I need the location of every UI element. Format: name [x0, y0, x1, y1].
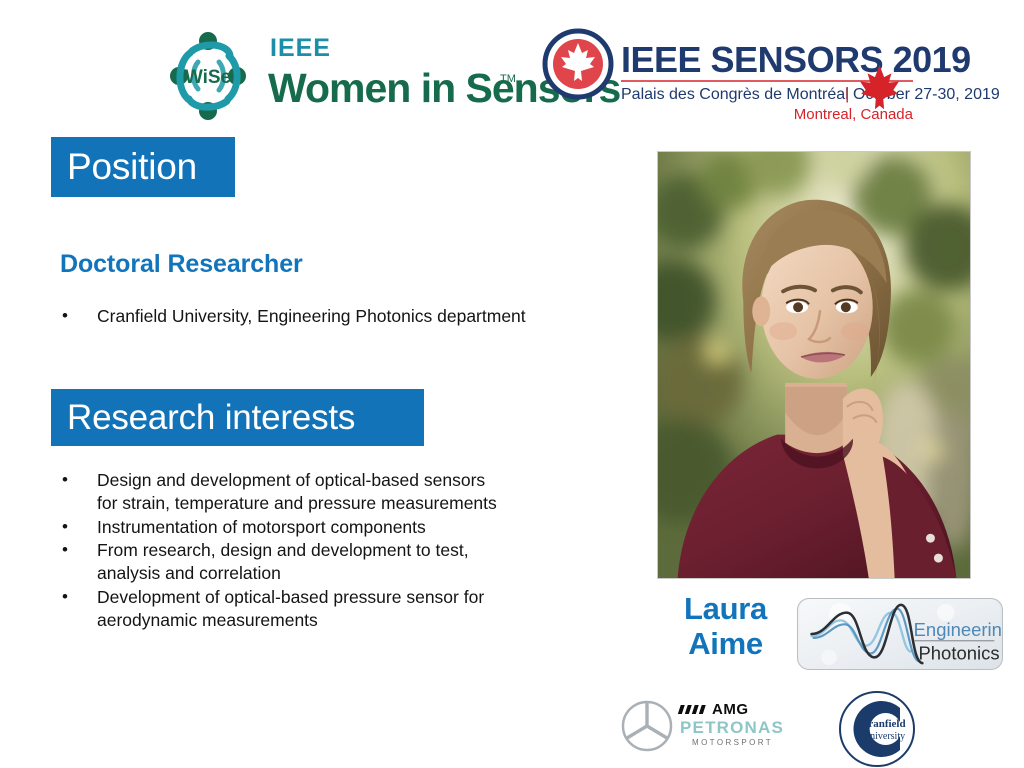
maple-leaf-roundel-icon — [545, 31, 611, 97]
list-item: • Instrumentation of motorsport componen… — [52, 516, 632, 539]
bullet-text: Cranfield University, Engineering Photon… — [97, 305, 652, 329]
list-item: • Design and development of optical-base… — [52, 469, 632, 515]
amg-text: AMG — [712, 701, 749, 718]
amg-speed-bars — [678, 705, 706, 714]
list-item: • Development of optical-based pressure … — [52, 586, 632, 632]
cranfield-line1-text: Cranfield — [860, 718, 905, 730]
sensors-title-text: IEEE SENSORS 2019 — [621, 39, 971, 80]
person-name: Laura Aime — [663, 592, 788, 661]
ieee-sensors-2019-logo: IEEE SENSORS 2019 Palais des Congrès de … — [543, 26, 935, 124]
sensors-venue-text: Palais des Congrès de Montréal — [621, 86, 849, 103]
subheading-doctoral-researcher: Doctoral Researcher — [60, 250, 303, 279]
bullet-marker-icon: • — [62, 469, 68, 491]
list-item: • From research, design and development … — [52, 539, 632, 585]
ieee-women-in-sensors-logo: WiSe IEEE Women in Sensors TM — [124, 22, 524, 130]
bullet-text: Design and development of optical-based … — [97, 469, 632, 515]
bullet-marker-icon: • — [62, 539, 68, 561]
list-item: • Cranfield University, Engineering Phot… — [52, 305, 652, 329]
sensors-dates-divider: | — [845, 84, 849, 103]
sensors-city-text: Montreal, Canada — [794, 106, 914, 123]
mercedes-amg-petronas-motorsport-logo: AMG PETRONAS MOTORSPORT — [620, 695, 785, 757]
section-banner-research-interests: Research interests — [51, 389, 424, 446]
bullet-text: Development of optical-based pressure se… — [97, 586, 632, 632]
person-name-line2: Aime — [663, 627, 788, 662]
eye-left — [793, 302, 803, 312]
cranfield-line2-text: University — [863, 731, 905, 742]
eye-right — [841, 302, 851, 312]
ep-line2-text: Photonics — [918, 642, 999, 663]
portrait-photo — [657, 151, 971, 579]
bullet-list-research-interests: • Design and development of optical-base… — [52, 469, 632, 632]
cranfield-university-logo: Cranfield University — [838, 690, 916, 768]
bullet-list-position: • Cranfield University, Engineering Phot… — [52, 305, 652, 330]
mercedes-star-icon — [623, 702, 671, 750]
bullet-marker-icon: • — [62, 305, 68, 328]
trademark-symbol: TM — [500, 73, 516, 85]
engineering-photonics-logo: Engineering Photonics — [797, 598, 1003, 670]
cuff-button — [926, 534, 935, 543]
bullet-marker-icon: • — [62, 586, 68, 608]
motorsport-text: MOTORSPORT — [692, 738, 773, 747]
wise-mark-text: WiSe — [185, 67, 231, 88]
cuff-button — [934, 554, 943, 563]
bullet-text: Instrumentation of motorsport components — [97, 516, 632, 539]
bullet-text: From research, design and development to… — [97, 539, 632, 585]
ep-line1-text: Engineering — [914, 619, 1003, 640]
bullet-marker-icon: • — [62, 516, 68, 538]
ieee-wordmark: IEEE — [270, 34, 331, 62]
petronas-text: PETRONAS — [680, 718, 784, 737]
person-name-line1: Laura — [663, 592, 788, 627]
section-banner-position: Position — [51, 137, 235, 197]
slide-canvas: WiSe IEEE Women in Sensors TM IEEE SENSO… — [0, 0, 1024, 768]
